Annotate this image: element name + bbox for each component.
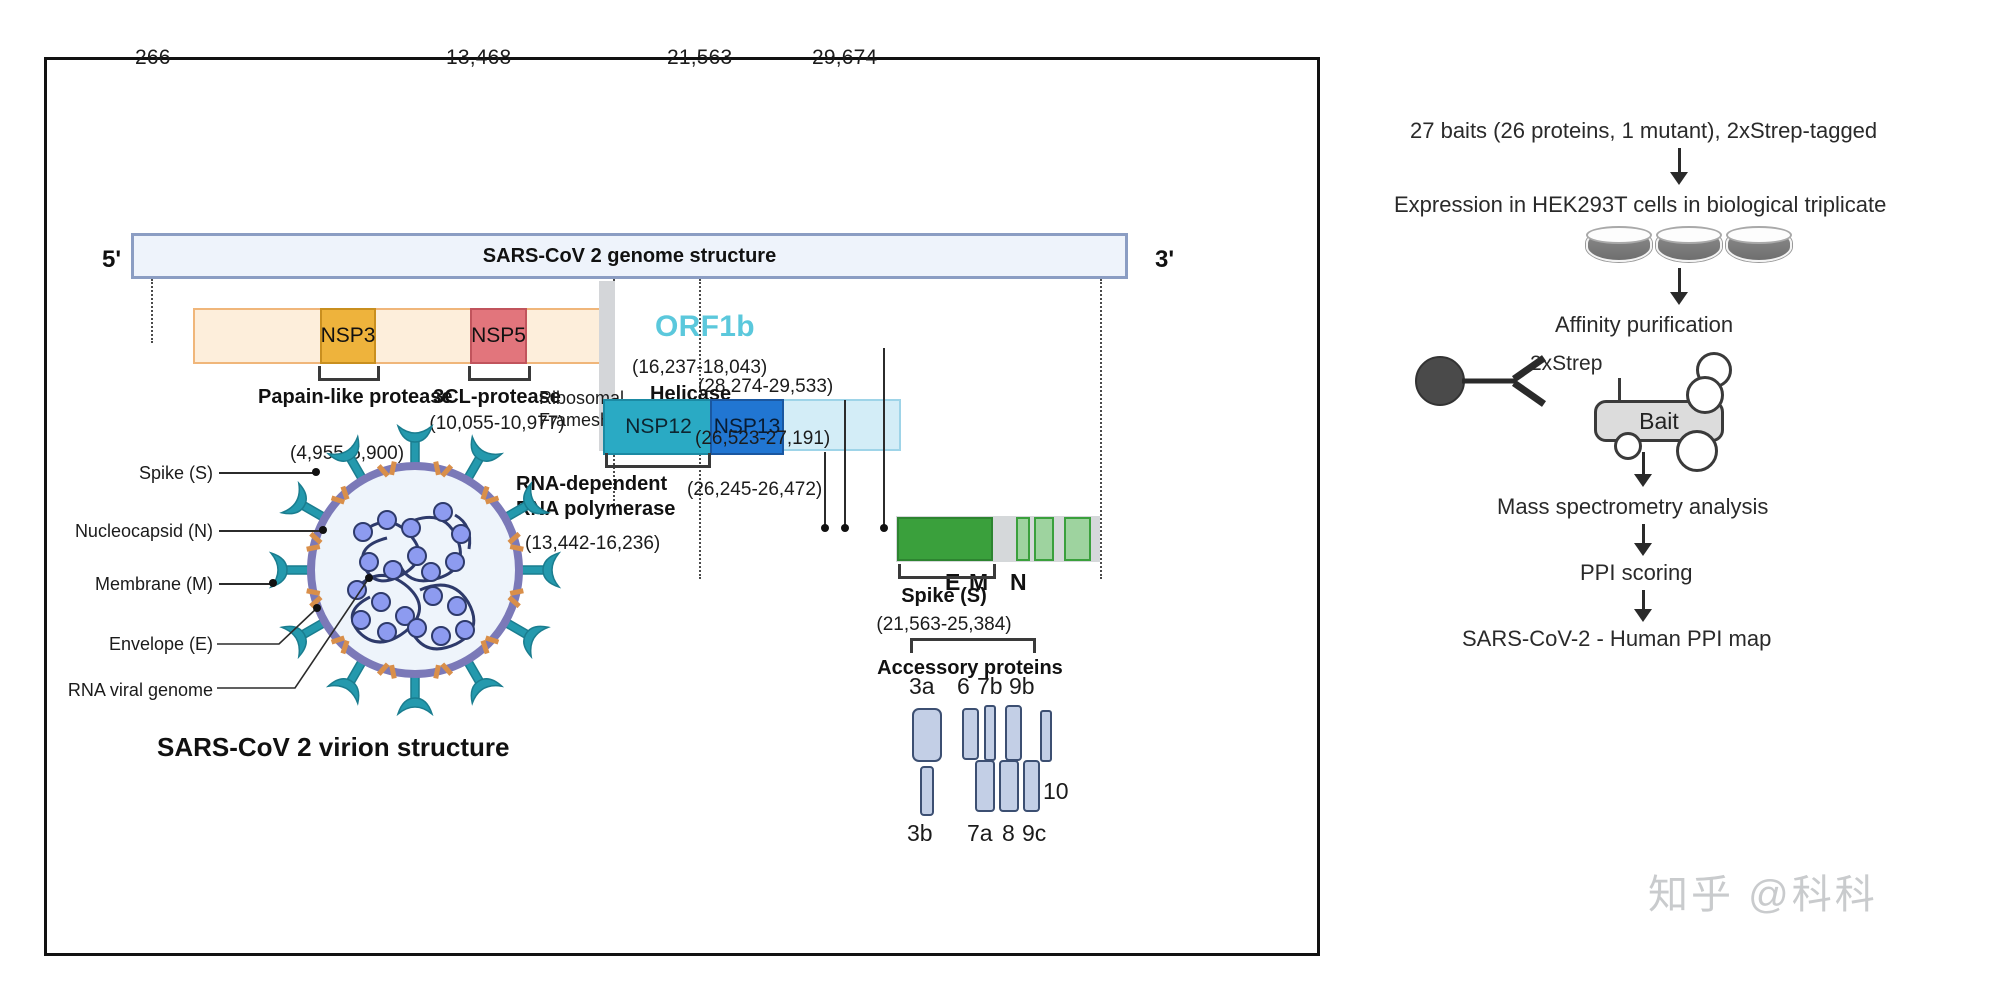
nsp3-caption: Papain-like protease (258, 385, 434, 410)
tick-label-13468: 13,468 (446, 46, 511, 70)
n-gene-box (1064, 517, 1091, 561)
callout-dot-spike (312, 468, 320, 476)
accessory-label-10: 10 (1043, 778, 1069, 805)
n-gene-coords: (28,274-29,533) (698, 376, 833, 398)
prey-protein-4 (1676, 430, 1718, 472)
m-gene-box (1034, 517, 1054, 561)
m-gene-dot (841, 524, 849, 532)
orf1b-label: ORF1b (655, 310, 755, 344)
spike-bracket (898, 564, 996, 579)
tick-label-21563: 21,563 (667, 46, 732, 70)
culture-dish-1-rim (1586, 226, 1652, 244)
callout-line-rna (217, 572, 397, 694)
genome-bar: SARS-CoV 2 genome structure (131, 233, 1128, 279)
three-prime-label: 3' (1155, 246, 1174, 274)
workflow-arrow-3-head (1634, 474, 1652, 487)
spike-coords: (21,563-25,384) (855, 614, 1033, 636)
workflow-arrow-5-head (1634, 609, 1652, 622)
accessory-label-3b: 3b (907, 820, 933, 847)
e-gene-box (1016, 517, 1030, 561)
spike-caption: Spike (S) (880, 584, 1008, 609)
workflow-arrow-4-head (1634, 543, 1652, 556)
nsp12-bracket (605, 453, 711, 468)
workflow-panel: 27 baits (26 proteins, 1 mutant), 2xStre… (1380, 100, 2000, 700)
virion-title: SARS-CoV 2 virion structure (157, 732, 510, 763)
n-gene-dot (880, 524, 888, 532)
workflow-step-affinity: Affinity purification (1555, 312, 1733, 338)
culture-dish-3-rim (1726, 226, 1792, 244)
workflow-step-ms: Mass spectrometry analysis (1497, 494, 1768, 520)
callout-label-spike: Spike (S) (87, 463, 213, 484)
m-gene-coords: (26,523-27,191) (695, 428, 830, 450)
callout-dot-nucleocapsid (319, 526, 327, 534)
accessory-label-9b: 9b (1009, 673, 1035, 700)
workflow-arrow-2-head (1670, 292, 1688, 305)
accessory-pill-8 (999, 760, 1019, 812)
nsp5-bracket (468, 366, 531, 381)
genome-figure-panel: 266 13,468 21,563 29,674 5' 3' SARS-CoV … (44, 57, 1320, 956)
accessory-label-7a: 7a (967, 820, 993, 847)
tick-label-266: 266 (135, 46, 171, 70)
accessory-label-8: 8 (1002, 820, 1015, 847)
accessory-pill-9b (1005, 705, 1022, 761)
workflow-step-expression: Expression in HEK293T cells in biologica… (1394, 192, 1886, 218)
spike-gene-box (897, 517, 993, 561)
callout-label-envelope: Envelope (E) (73, 634, 213, 655)
n-gene-label: N (1010, 568, 1027, 597)
callout-label-rna: RNA viral genome (53, 680, 213, 701)
accessory-pill-10 (1040, 710, 1052, 762)
n-gene-leader (883, 348, 885, 528)
nsp3-box: NSP3 (320, 308, 376, 364)
culture-dish-2-rim (1656, 226, 1722, 244)
callout-label-nucleocapsid: Nucleocapsid (N) (47, 521, 213, 542)
strep-tag-label: 2xStrep (1530, 352, 1602, 376)
accessory-pill-9c (1023, 760, 1040, 812)
callout-line-nucleocapsid (219, 530, 323, 532)
accessory-pill-3b (920, 766, 934, 816)
e-gene-dot (821, 524, 829, 532)
five-prime-label: 5' (102, 246, 121, 274)
watermark: 知乎 @科科 (1648, 862, 1878, 920)
workflow-step-ppi-scoring: PPI scoring (1580, 560, 1693, 586)
callout-line-spike (219, 472, 317, 474)
accessory-title: Accessory proteins (850, 656, 1090, 681)
accessory-label-3a: 3a (909, 673, 935, 700)
callout-dot-rna (365, 574, 373, 582)
guide-line-266 (151, 279, 153, 343)
structural-genes-bar (896, 516, 1100, 562)
e-gene-leader (824, 452, 826, 528)
callout-label-membrane: Membrane (M) (67, 574, 213, 595)
accessory-pill-7a (975, 760, 995, 812)
accessory-label-9c: 9c (1022, 820, 1046, 847)
tick-label-29674: 29,674 (812, 46, 877, 70)
genome-bar-label: SARS-CoV 2 genome structure (483, 245, 776, 268)
accessory-label-6: 6 (957, 673, 970, 700)
nsp5-box: NSP5 (470, 308, 527, 364)
workflow-arrow-1-head (1670, 172, 1688, 185)
guide-line-29674 (1100, 279, 1102, 579)
prey-protein-3 (1614, 432, 1642, 460)
m-gene-leader (844, 400, 846, 528)
accessory-label-7b: 7b (977, 673, 1003, 700)
e-gene-coords: (26,245-26,472) (687, 479, 822, 501)
accessory-pill-3a (912, 708, 942, 762)
prey-protein-2 (1686, 376, 1724, 414)
accessory-pill-6 (962, 708, 979, 760)
accessory-bracket (910, 638, 1036, 653)
orf1a-bar: NSP3 NSP5 (193, 308, 613, 364)
nsp3-bracket (318, 366, 380, 381)
workflow-step-baits: 27 baits (26 proteins, 1 mutant), 2xStre… (1410, 118, 1877, 144)
accessory-pill-7b (984, 705, 996, 761)
workflow-step-ppi-map: SARS-CoV-2 - Human PPI map (1462, 626, 1771, 652)
